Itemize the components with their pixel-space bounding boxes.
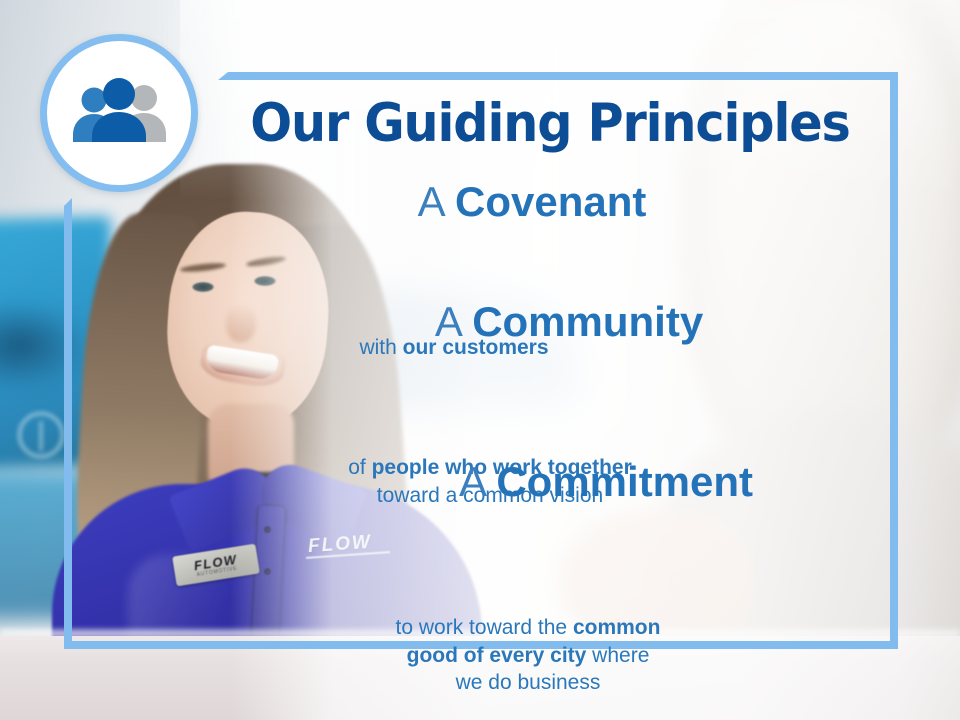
principle-article: A xyxy=(459,458,496,505)
principle-headline: A Community xyxy=(200,300,900,345)
principle-block-covenant: A Covenant with our customers xyxy=(200,180,900,225)
text-content: Our Guiding Principles A Covenant with o… xyxy=(200,72,900,649)
principle-article: A xyxy=(435,298,472,345)
principle-keyword: Community xyxy=(472,298,703,345)
group-of-people-icon-badge xyxy=(40,34,198,192)
page-title: Our Guiding Principles xyxy=(225,97,876,151)
guiding-principles-banner: FLOW FLOW AUTOMOTIVE xyxy=(0,0,960,720)
principle-block-community: A Community of people who work together … xyxy=(200,300,900,345)
principle-keyword: Commitment xyxy=(496,458,753,505)
principle-headline: A Commitment xyxy=(200,460,900,505)
description-line: we do business xyxy=(378,669,678,697)
principle-headline: A Covenant xyxy=(200,180,900,225)
description-segment-bold: good of every city xyxy=(407,644,587,667)
description-line: to work toward the common xyxy=(378,614,678,642)
description-segment: to work toward the xyxy=(396,616,573,639)
principle-article: A xyxy=(418,178,455,225)
description-segment-bold: common xyxy=(573,616,661,639)
principle-keyword: Covenant xyxy=(455,178,646,225)
principle-description: to work toward the common good of every … xyxy=(258,614,678,720)
description-line: good of every city where xyxy=(378,642,678,670)
principle-block-commitment: A Commitment to work toward the common g… xyxy=(200,460,900,505)
group-of-people-icon xyxy=(67,76,171,150)
description-segment: where xyxy=(586,644,649,667)
